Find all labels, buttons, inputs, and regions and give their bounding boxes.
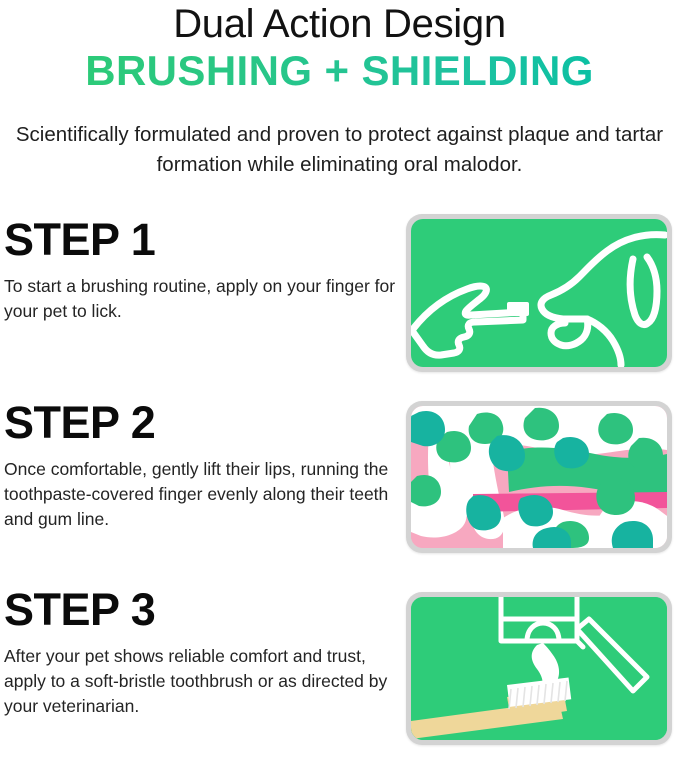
step-1-title: STEP 1 (4, 216, 396, 264)
step-2-illustration-panel (406, 401, 672, 553)
steps-section: STEP 1 To start a brushing routine, appl… (0, 214, 679, 774)
page-title-line1: Dual Action Design (0, 2, 679, 46)
step-3-text: STEP 3 After your pet shows reliable com… (4, 586, 396, 719)
teeth-gums-toothpaste-icon (411, 406, 667, 548)
step-2-title: STEP 2 (4, 399, 396, 447)
step-1-illustration-inner (411, 219, 667, 367)
hand-and-dog-head-icon (411, 219, 667, 367)
step-3-illustration-inner (411, 597, 667, 740)
step-3-body: After your pet shows reliable comfort an… (4, 644, 396, 719)
step-row-2: STEP 2 Once comfortable, gently lift the… (0, 397, 679, 584)
header: Dual Action Design BRUSHING + SHIELDING … (0, 0, 679, 180)
step-3-illustration-panel (406, 592, 672, 745)
step-1-text: STEP 1 To start a brushing routine, appl… (4, 216, 396, 324)
page-title-line2: BRUSHING + SHIELDING (0, 48, 679, 94)
step-1-body: To start a brushing routine, apply on yo… (4, 274, 396, 324)
step-2-body: Once comfortable, gently lift their lips… (4, 457, 396, 532)
header-subhead: Scientifically formulated and proven to … (16, 120, 664, 180)
toothpaste-tube-and-brush-icon (411, 597, 667, 740)
step-2-illustration-inner (411, 406, 667, 548)
step-row-3: STEP 3 After your pet shows reliable com… (0, 584, 679, 774)
step-1-illustration-panel (406, 214, 672, 372)
step-row-1: STEP 1 To start a brushing routine, appl… (0, 214, 679, 397)
step-2-text: STEP 2 Once comfortable, gently lift the… (4, 399, 396, 532)
step-3-title: STEP 3 (4, 586, 396, 634)
